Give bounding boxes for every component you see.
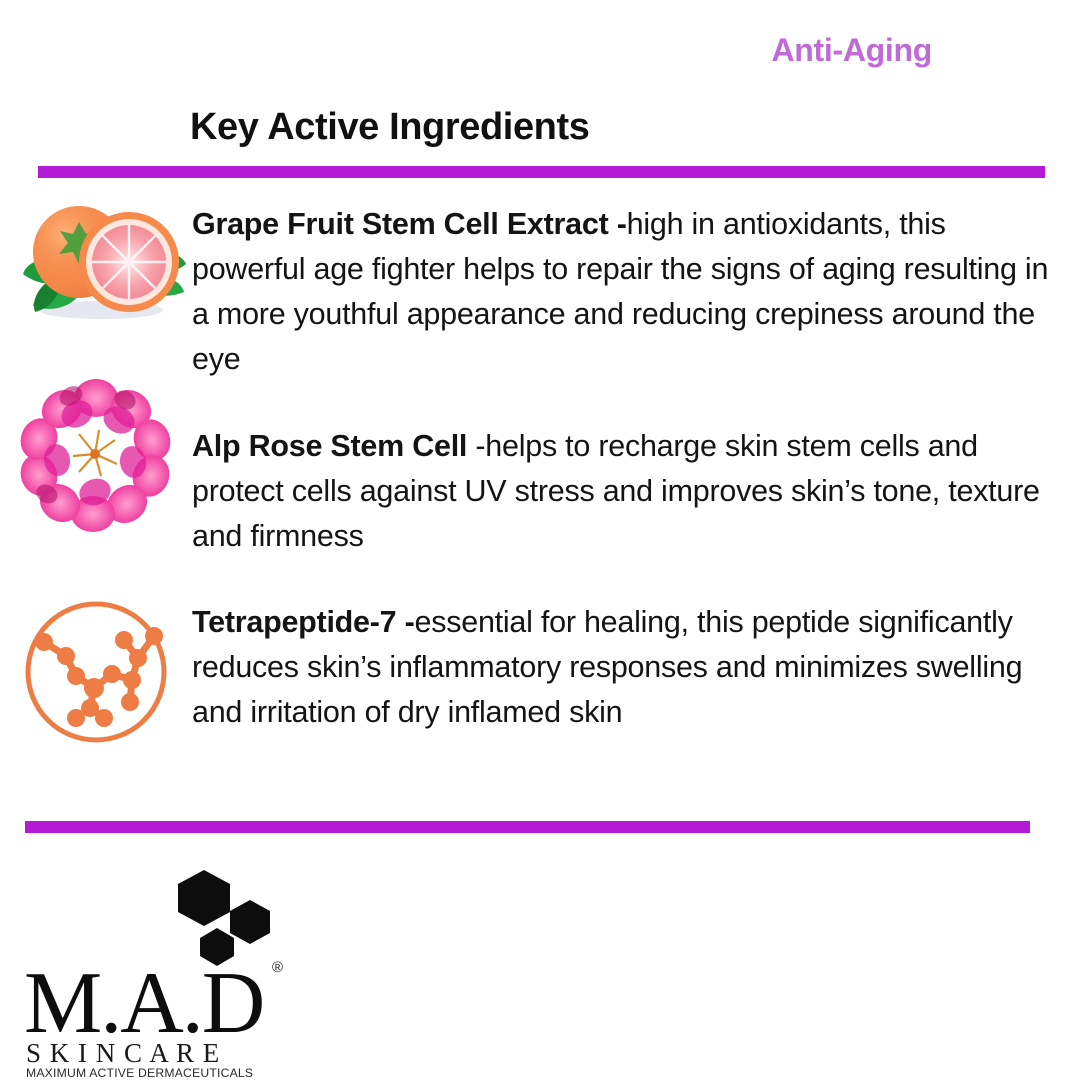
ingredient-name: Alp Rose Stem Cell: [192, 429, 475, 463]
divider-top: [38, 166, 1045, 178]
logo-subtitle-text: S K I N C A R E: [26, 1038, 220, 1068]
ingredient-text: Grape Fruit Stem Cell Extract -high in a…: [192, 202, 1080, 382]
page-title: Key Active Ingredients: [190, 106, 589, 149]
ingredient-row: Tetrapeptide-7 -essential for healing, t…: [0, 600, 1080, 748]
ingredient-icon-slot: [0, 424, 192, 536]
logo-tagline-text: MAXIMUM ACTIVE DERMACEUTICALS: [26, 1066, 253, 1080]
ingredient-row: Grape Fruit Stem Cell Extract -high in a…: [0, 202, 1080, 382]
ingredient-text: Tetrapeptide-7 -essential for healing, t…: [192, 600, 1080, 735]
ingredient-name: Grape Fruit Stem Cell Extract -: [192, 207, 627, 241]
ingredient-icon-slot: [0, 202, 192, 322]
category-label: Anti-Aging: [771, 32, 932, 69]
brand-logo: ® M.A.D S K I N C A R E MAXIMUM ACTIVE D…: [18, 866, 298, 1080]
ingredient-row: Alp Rose Stem Cell -helps to recharge sk…: [0, 424, 1080, 559]
divider-bottom: [25, 821, 1030, 833]
grapefruit-icon: [9, 194, 187, 322]
peptide-molecule-icon: [20, 596, 172, 748]
alp-rose-flower-icon: [17, 376, 175, 536]
ingredient-text: Alp Rose Stem Cell -helps to recharge sk…: [192, 424, 1080, 559]
ingredient-name: Tetrapeptide-7 -: [192, 605, 415, 639]
hexagon-cluster-icon: [178, 870, 270, 966]
ingredient-icon-slot: [0, 600, 192, 748]
registered-mark-icon: ®: [272, 959, 283, 976]
